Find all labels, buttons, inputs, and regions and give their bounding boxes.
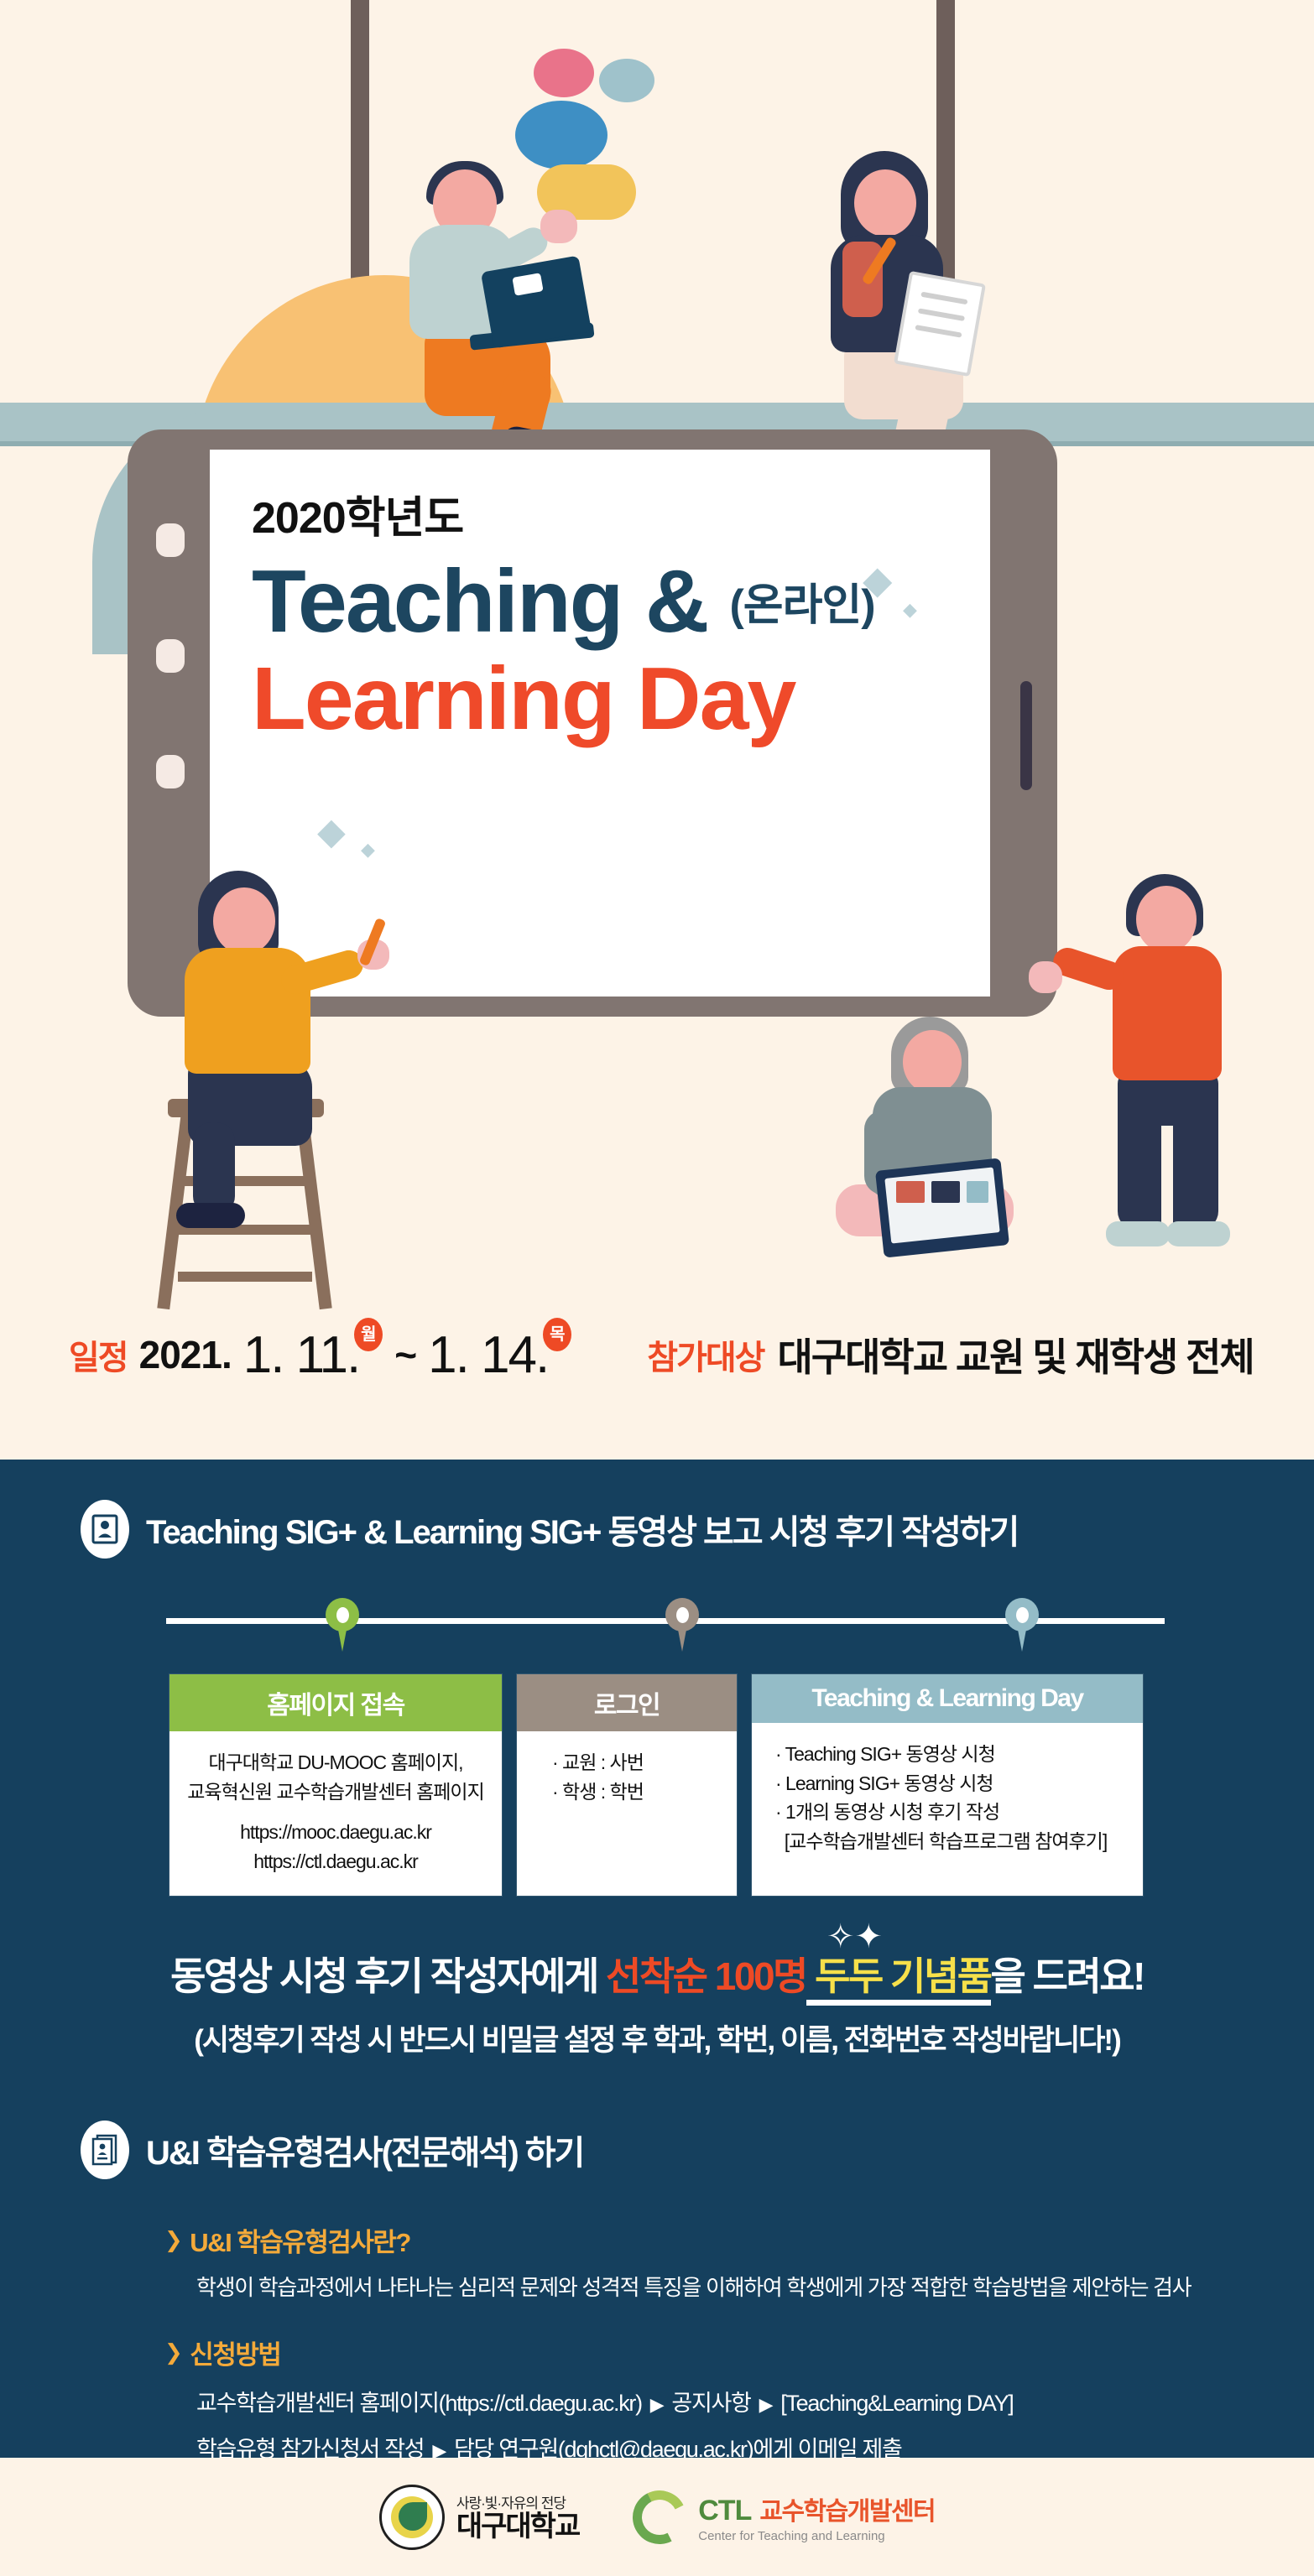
step-1-url-1[interactable]: https://mooc.daegu.ac.kr (181, 1818, 490, 1847)
date-range-tilde: ~ (394, 1332, 416, 1377)
ctl-abbreviation: CTL (698, 2495, 751, 2527)
apply-step-1-b: 공지사항 (671, 2391, 750, 2416)
promo-note: (시청후기 작성 시 반드시 비밀글 설정 후 학과, 학번, 이름, 전화번호… (0, 2017, 1314, 2059)
title-line-1: Teaching &(온라인) (252, 555, 940, 648)
illustration-person-clipboard (797, 151, 1015, 453)
university-tagline: 사랑·빛·자유의 전당 (456, 2491, 579, 2512)
apply-step-1-a[interactable]: 교수학습개발센터 홈페이지(https://ctl.daegu.ac.kr) (196, 2391, 642, 2416)
audience-label: 참가대상 (647, 1330, 764, 1379)
step-2-body: · 교원 : 사번 · 학생 : 학번 (517, 1731, 737, 1826)
promo-part-1: 동영상 시청 후기 작성자에게 (170, 1954, 606, 1998)
chevron-right-icon: ❯ (164, 2227, 181, 2253)
schedule-label: 일정 (69, 1330, 128, 1379)
date-end: 1. 14. (428, 1325, 548, 1385)
section-1-title: Teaching SIG+ & Learning SIG+ 동영상 보고 시청 … (146, 1505, 1018, 1553)
review-badge-icon (81, 1500, 129, 1559)
speech-bubble-pink (534, 49, 594, 97)
sparkle-icon: ◆ (317, 810, 346, 853)
arrow-right-icon: ▶ (650, 2394, 664, 2415)
uni-definition-heading: ❯ U&I 학습유형검사란? (164, 2221, 1289, 2259)
section-1-header: Teaching SIG+ & Learning SIG+ 동영상 보고 시청 … (0, 1500, 1314, 1559)
step-card-2: 로그인 · 교원 : 사번 · 학생 : 학번 (517, 1674, 737, 1896)
uni-definition-text: 학생이 학습과정에서 나타나는 심리적 문제와 성격적 특징을 이해하여 학생에… (196, 2271, 1289, 2302)
apply-step-1-c: [Teaching&Learning DAY] (780, 2391, 1013, 2416)
audience-value: 대구대학교 교원 및 재학생 전체 (777, 1327, 1253, 1382)
illustration-person-tablet (844, 1017, 1071, 1268)
step-1-line-2: 교육혁신원 교수학습개발센터 홈페이지 (181, 1777, 490, 1807)
step-card-3: Teaching & Learning Day · Teaching SIG+ … (752, 1674, 1143, 1896)
sparkle-icon: ◆ (903, 599, 917, 621)
step-1-url-2[interactable]: https://ctl.daegu.ac.kr (181, 1847, 490, 1876)
step-3-line-4: [교수학습개발센터 학습프로그램 참여후기] (775, 1827, 1131, 1856)
promo-headline: 동영상 시청 후기 작성자에게 선착순 100명 두두 기념품을 드려요! (0, 1946, 1314, 2001)
footer: 사랑·빛·자유의 전당 대구대학교 CTL 교수학습개발센터 Center fo… (0, 2458, 1314, 2576)
date-start-weekday: 월 (354, 1318, 383, 1351)
university-name: 대구대학교 (456, 2512, 579, 2542)
ctl-circle-icon (626, 2483, 694, 2551)
speech-bubble-gray (599, 59, 654, 102)
step-3-body: · Teaching SIG+ 동영상 시청 · Learning SIG+ 동… (752, 1723, 1143, 1876)
step-1-line-1: 대구대학교 DU-MOOC 홈페이지, (181, 1748, 490, 1777)
steps-timeline (166, 1598, 1165, 1657)
step-3-header: Teaching & Learning Day (752, 1674, 1143, 1723)
promo-part-2: 을 드려요! (991, 1954, 1144, 1998)
promo-highlight-red: 선착순 100명 (606, 1954, 806, 1998)
steps-cards: 홈페이지 접속 대구대학교 DU-MOOC 홈페이지, 교육혁신원 교수학습개발… (169, 1674, 1160, 1896)
poster: 2020학년도 Teaching &(온라인) Learning Day ◆ ◆… (0, 0, 1314, 2576)
step-1-body: 대구대학교 DU-MOOC 홈페이지, 교육혁신원 교수학습개발센터 홈페이지 … (169, 1731, 502, 1896)
ctl-name-korean: 교수학습개발센터 (759, 2490, 935, 2527)
university-seal-icon (379, 2485, 445, 2550)
schedule-bar: 일정 2021. 1. 11.월 ~ 1. 14.목 참가대상 대구대학교 교원… (0, 1309, 1314, 1401)
timeline-pin-1 (326, 1598, 359, 1653)
daegu-university-logo: 사랑·빛·자유의 전당 대구대학교 (379, 2485, 579, 2550)
date-year: 2021. (139, 1332, 232, 1377)
step-1-header: 홈페이지 접속 (169, 1674, 502, 1731)
step-3-line-3: · 1개의 동영상 시청 후기 작성 (775, 1798, 1131, 1827)
step-card-1: 홈페이지 접속 대구대학교 DU-MOOC 홈페이지, 교육혁신원 교수학습개발… (169, 1674, 502, 1896)
chevron-right-icon: ❯ (164, 2339, 181, 2365)
date-start: 1. 11. (243, 1325, 360, 1385)
date-end-weekday: 목 (543, 1318, 571, 1351)
arrow-right-icon: ▶ (759, 2394, 773, 2415)
speech-bubble-blue (515, 101, 607, 169)
sparkle-icon: ◆ (863, 557, 892, 602)
timeline-pin-2 (665, 1598, 699, 1653)
promo-block: 동영상 시청 후기 작성자에게 선착순 100명 두두 기념품을 드려요! (시… (0, 1946, 1314, 2059)
promo-highlight-yellow: 두두 기념품 (806, 1954, 991, 2006)
hero-title-block: 2020학년도 Teaching &(온라인) Learning Day (252, 497, 940, 745)
uni-apply-heading-text: 신청방법 (190, 2334, 280, 2371)
uni-apply-step-1: 교수학습개발센터 홈페이지(https://ctl.daegu.ac.kr)▶공… (196, 2385, 1289, 2417)
timeline-pin-3 (1005, 1598, 1039, 1653)
hero-section: 2020학년도 Teaching &(온라인) Learning Day ◆ ◆… (0, 0, 1314, 1460)
illustration-person-writing (180, 871, 431, 1257)
illustration-person-standing (1089, 874, 1282, 1268)
uni-apply-block: ❯ 신청방법 교수학습개발센터 홈페이지(https://ctl.daegu.a… (164, 2334, 1289, 2464)
step-2-line-1: · 교원 : 사번 (552, 1748, 725, 1777)
online-tag: (온라인) (729, 581, 874, 630)
step-3-line-2: · Learning SIG+ 동영상 시청 (775, 1769, 1131, 1798)
step-3-line-1: · Teaching SIG+ 동영상 시청 (775, 1740, 1131, 1769)
section-2-header: U&I 학습유형검사(전문해석) 하기 (0, 2121, 1314, 2179)
sparkle-icon: ◆ (361, 839, 375, 861)
uni-definition-block: ❯ U&I 학습유형검사란? 학생이 학습과정에서 나타나는 심리적 문제와 성… (164, 2221, 1289, 2302)
ctl-logo: CTL 교수학습개발센터 Center for Teaching and Lea… (633, 2490, 935, 2544)
uni-apply-heading: ❯ 신청방법 (164, 2334, 1289, 2371)
ctl-name-english: Center for Teaching and Learning (698, 2529, 935, 2543)
title-teaching: Teaching & (252, 552, 707, 651)
step-2-header: 로그인 (517, 1674, 737, 1731)
illustration-person-laptop (379, 161, 614, 438)
test-document-icon (81, 2121, 129, 2179)
section-2-title: U&I 학습유형검사(전문해석) 하기 (146, 2126, 583, 2174)
uni-definition-heading-text: U&I 학습유형검사란? (190, 2221, 410, 2259)
step-2-line-2: · 학생 : 학번 (552, 1777, 725, 1807)
academic-year: 2020학년도 (252, 497, 940, 540)
title-line-2: Learning Day (252, 653, 940, 745)
section-2-body: ❯ U&I 학습유형검사란? 학생이 학습과정에서 나타나는 심리적 문제와 성… (164, 2221, 1289, 2464)
